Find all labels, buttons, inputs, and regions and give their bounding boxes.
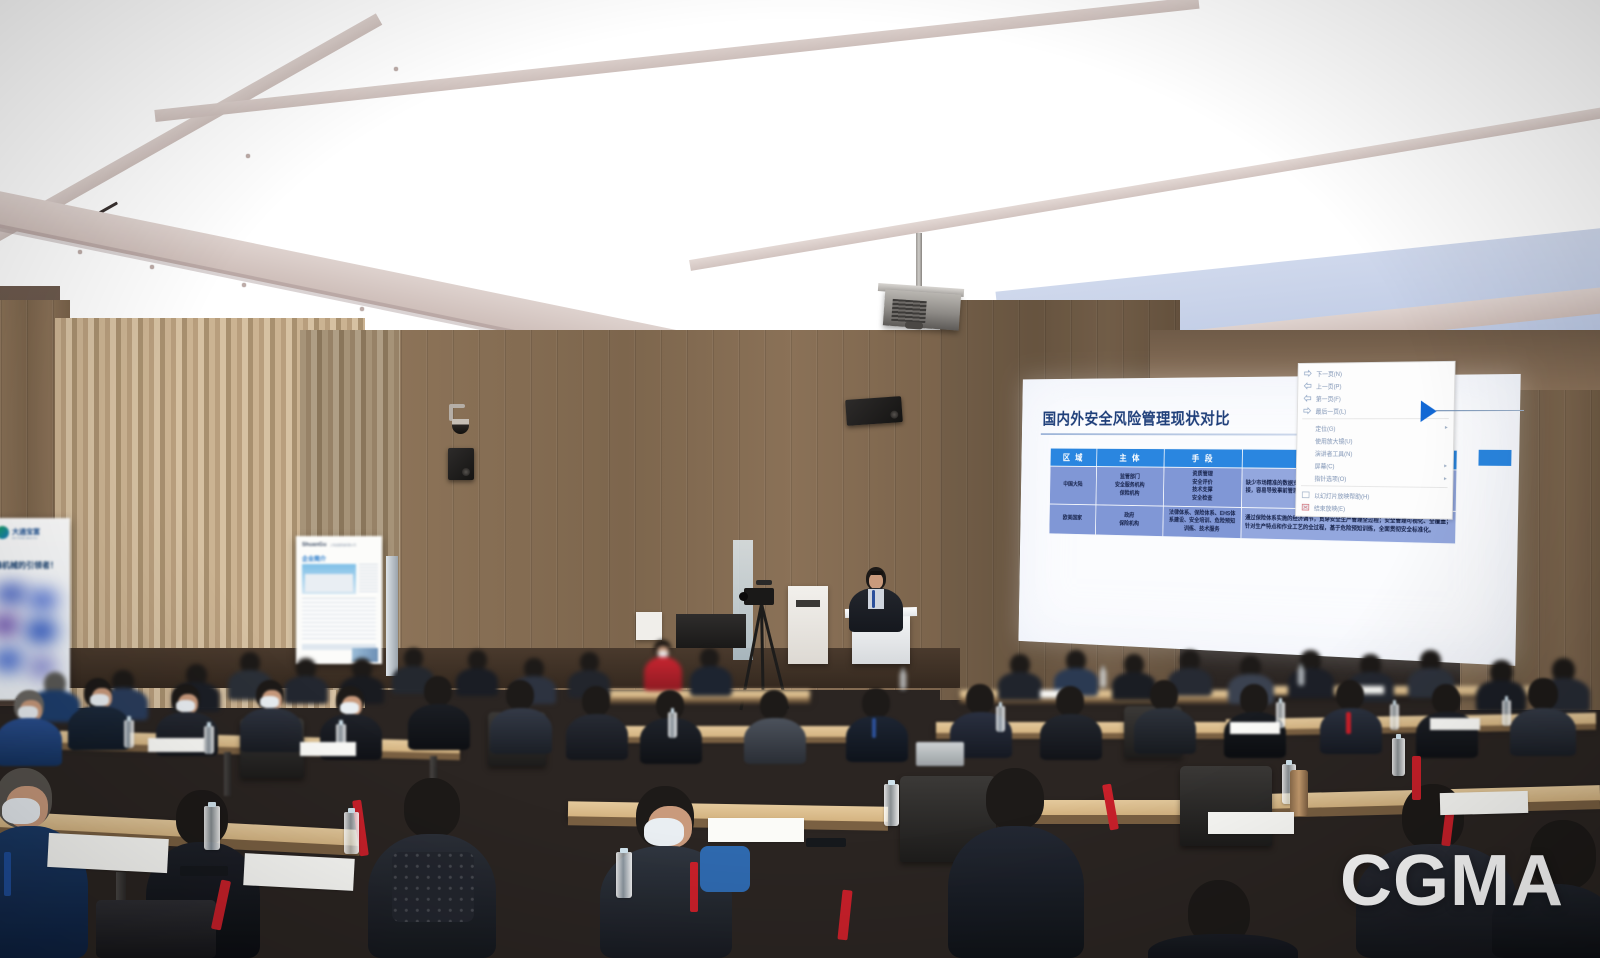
menu-item-presenter-tools[interactable]: 演讲者工具(N) bbox=[1297, 446, 1453, 460]
water-bottle bbox=[884, 784, 899, 826]
handout bbox=[1208, 812, 1294, 834]
th-means: 手 段 bbox=[1164, 449, 1242, 468]
projector-lens bbox=[905, 321, 923, 329]
backpack bbox=[96, 900, 216, 958]
poster-heading: 企业简介 bbox=[302, 554, 326, 563]
menu-label: 下一页(N) bbox=[1316, 368, 1342, 378]
handout bbox=[47, 833, 169, 873]
menu-label: 上一页(P) bbox=[1316, 380, 1341, 390]
stop-icon bbox=[1301, 503, 1309, 511]
slide-title: 国内外安全风险管理现状对比 bbox=[1042, 405, 1230, 428]
th-region: 区 域 bbox=[1050, 448, 1097, 466]
red-lanyard bbox=[837, 890, 852, 941]
menu-item-previous-slide[interactable]: 上一页(P) bbox=[1298, 378, 1454, 392]
menu-label: 屏幕(C) bbox=[1315, 460, 1335, 470]
menu-label: 使用放大镜(U) bbox=[1315, 435, 1353, 445]
table-extra-column-header bbox=[1478, 450, 1511, 466]
th-subject: 主 体 bbox=[1097, 448, 1165, 467]
chevron-right-icon: ▸ bbox=[1445, 424, 1448, 431]
water-bottle bbox=[344, 812, 359, 854]
menu-item-goto[interactable]: 定位(G) ▸ bbox=[1297, 421, 1453, 434]
air-conditioner bbox=[788, 586, 828, 664]
blue-jacket bbox=[700, 846, 750, 892]
thermos bbox=[1290, 770, 1308, 816]
arrow-left-icon bbox=[1304, 381, 1312, 389]
wall-speaker-right bbox=[845, 396, 903, 426]
water-bottle bbox=[204, 806, 220, 850]
banner-brand-sub: DA TONG BAO FU bbox=[12, 536, 37, 540]
menu-item-pointer-options[interactable]: 指针选项(O) ▸ bbox=[1297, 471, 1453, 485]
menu-item-end-show[interactable]: 结束放映(E) bbox=[1296, 500, 1452, 515]
menu-label: 结束放映(E) bbox=[1314, 502, 1345, 512]
water-bottle bbox=[616, 852, 632, 898]
projection-screen: 国内外安全风险管理现状对比 区 域 主 体 手 段 特 点 中国大陆 监管部门 … bbox=[1018, 374, 1520, 666]
cell-subject: 监管部门 安全服务机构 保险机构 bbox=[1096, 467, 1164, 506]
wall-speaker-left bbox=[448, 448, 474, 480]
equipment-box bbox=[636, 612, 662, 640]
handout bbox=[708, 818, 804, 842]
menu-label: 最后一页(L) bbox=[1316, 405, 1347, 415]
cgma-watermark: CGMA bbox=[1340, 845, 1564, 917]
arrow-last-icon bbox=[1303, 406, 1311, 414]
poster-brand: ShuanGu bbox=[302, 542, 326, 548]
banner-tagline: 干燥机械的引领者！ bbox=[0, 560, 58, 571]
arrow-right-icon bbox=[1304, 369, 1312, 377]
phone bbox=[806, 838, 846, 847]
pen bbox=[180, 866, 228, 876]
patterned-sweater bbox=[392, 852, 474, 922]
handout bbox=[243, 853, 355, 891]
laser-pointer-cursor[interactable] bbox=[1421, 400, 1437, 422]
poster-shuangu: ShuanGu 上海双鼓机械有限公司 企业简介 bbox=[296, 536, 382, 664]
conference-photo: 国内外安全风险管理现状对比 区 域 主 体 手 段 特 点 中国大陆 监管部门 … bbox=[0, 0, 1600, 958]
cell-region: 欧美国家 bbox=[1049, 504, 1096, 535]
menu-label: 演讲者工具(N) bbox=[1315, 448, 1353, 458]
chevron-right-icon: ▸ bbox=[1444, 475, 1447, 482]
chevron-right-icon: ▸ bbox=[1444, 462, 1447, 469]
poster-stand bbox=[386, 556, 398, 676]
camera-arm-h bbox=[449, 404, 465, 408]
air-conditioner-grill bbox=[796, 600, 820, 607]
pointer-trail bbox=[1436, 410, 1524, 412]
menu-item-magnifier[interactable]: 使用放大镜(U) bbox=[1297, 434, 1453, 447]
video-camera bbox=[744, 588, 774, 605]
cell-subject: 政府 保险机构 bbox=[1095, 505, 1163, 537]
menu-label: 第一页(F) bbox=[1316, 393, 1341, 403]
projector-vent bbox=[891, 299, 926, 323]
presenter-face bbox=[869, 573, 883, 589]
help-icon bbox=[1302, 490, 1310, 498]
camera-lens-icon bbox=[739, 592, 748, 601]
presenter-glasses bbox=[870, 571, 883, 575]
cell-region: 中国大陆 bbox=[1050, 466, 1097, 504]
water-bottle bbox=[1392, 738, 1405, 776]
av-equipment bbox=[676, 614, 746, 648]
cell-means: 资质管理 安全评价 技术支撑 安全检查 bbox=[1163, 467, 1242, 507]
arrow-first-icon bbox=[1303, 394, 1311, 402]
menu-label: 定位(G) bbox=[1315, 423, 1335, 433]
menu-label: 以幻灯片放映帮助(H) bbox=[1314, 490, 1369, 500]
handout bbox=[1440, 791, 1529, 815]
cell-means: 法律体系、保险体系、EHS体系建设、安全培训、危险预知训练、技术服务 bbox=[1163, 506, 1242, 539]
powerpoint-context-menu[interactable]: 下一页(N) 上一页(P) 第一页(F) 最后一页(L) 定位(G) ▸ 使用放… bbox=[1295, 361, 1455, 520]
presenter-shirt bbox=[868, 589, 884, 609]
brand-logo-icon bbox=[0, 526, 9, 539]
camera-microphone bbox=[756, 580, 772, 585]
red-lanyard bbox=[1412, 756, 1421, 800]
menu-label: 指针选项(O) bbox=[1314, 472, 1346, 482]
presenter-lanyard bbox=[872, 590, 875, 608]
